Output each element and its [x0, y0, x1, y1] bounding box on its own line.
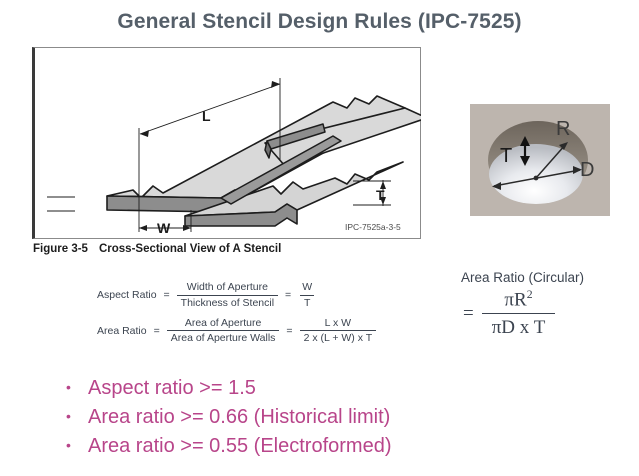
bullet-marker-icon: • [66, 380, 88, 394]
area-ratio-formula: Area Ratio = Area of Aperture Area of Ap… [97, 317, 376, 346]
dimension-label-width: W [157, 220, 171, 236]
list-item: • Aspect ratio >= 1.5 [66, 374, 626, 403]
aspect-ratio-label: Aspect Ratio [97, 289, 157, 301]
aperture-label-thickness: T [500, 145, 512, 167]
area-ratio-circular-expression: = πR2 πD x T [461, 288, 584, 340]
area-ratio-numerator-words: Area of Aperture [181, 317, 265, 331]
area-ratio-circular-denominator: πD x T [482, 313, 556, 340]
bullet-text: Area ratio >= 0.55 (Electroformed) [88, 432, 391, 461]
area-ratio-circular-numerator: πR [504, 289, 526, 310]
page-title: General Stencil Design Rules (IPC-7525) [0, 10, 639, 34]
figure-caption-number: Figure 3-5 [33, 243, 88, 255]
figure-caption: Figure 3-5Cross-Sectional View of A Sten… [33, 243, 281, 255]
area-ratio-word-fraction: Area of Aperture Area of Aperture Walls [167, 317, 280, 346]
stencil-formulas: Aspect Ratio = Width of Aperture Thickne… [97, 281, 376, 352]
bullet-text: Area ratio >= 0.66 (Historical limit) [88, 403, 390, 432]
circular-aperture-image: R D T [470, 104, 610, 216]
aspect-ratio-word-fraction: Width of Aperture Thickness of Stencil [177, 281, 278, 310]
area-ratio-circular-fraction: πR2 πD x T [482, 288, 556, 340]
bullet-text: Aspect ratio >= 1.5 [88, 374, 256, 403]
bullet-marker-icon: • [66, 409, 88, 423]
area-ratio-equals-2: = [286, 325, 292, 337]
list-item: • Area ratio >= 0.66 (Historical limit) [66, 403, 626, 432]
aspect-ratio-equals: = [164, 289, 170, 301]
aspect-ratio-denominator-symbol: T [300, 295, 314, 310]
aspect-ratio-symbol-fraction: W T [298, 281, 316, 310]
design-rules-bullet-list: • Aspect ratio >= 1.5 • Area ratio >= 0.… [66, 374, 626, 460]
bullet-marker-icon: • [66, 438, 88, 452]
aspect-ratio-numerator-symbol: W [298, 281, 316, 295]
area-ratio-circular-label: Area Ratio (Circular) [461, 270, 584, 285]
aspect-ratio-formula: Aspect Ratio = Width of Aperture Thickne… [97, 281, 376, 310]
area-ratio-symbol-fraction: L x W 2 x (L + W) x T [300, 317, 377, 346]
area-ratio-circular-formula: Area Ratio (Circular) = πR2 πD x T [461, 270, 584, 340]
area-ratio-equals: = [154, 325, 160, 337]
aspect-ratio-equals-2: = [285, 289, 291, 301]
stencil-figure-box: L W T IPC-7525a-3-5 [32, 47, 421, 239]
area-ratio-circular-equals: = [463, 303, 474, 325]
dimension-label-length: L [202, 108, 211, 124]
circular-aperture-svg: R D T [470, 104, 610, 216]
area-ratio-circular-numerator-wrap: πR2 [494, 288, 542, 313]
figure-caption-text: Cross-Sectional View of A Stencil [99, 243, 281, 255]
dimension-label-thickness: T [376, 187, 385, 203]
aspect-ratio-numerator-words: Width of Aperture [183, 281, 272, 295]
list-item: • Area ratio >= 0.55 (Electroformed) [66, 432, 626, 461]
area-ratio-denominator-symbol: 2 x (L + W) x T [300, 330, 377, 345]
stencil-isometric-diagram: L W T IPC-7525a-3-5 [35, 48, 421, 238]
aperture-label-radius: R [556, 118, 570, 140]
aperture-label-diameter: D [580, 159, 594, 181]
area-ratio-denominator-words: Area of Aperture Walls [167, 330, 280, 345]
area-ratio-numerator-symbol: L x W [321, 317, 355, 331]
aspect-ratio-denominator-words: Thickness of Stencil [177, 295, 278, 310]
figure-source-code: IPC-7525a-3-5 [345, 222, 401, 232]
area-ratio-circular-exponent: 2 [527, 288, 533, 301]
area-ratio-label: Area Ratio [97, 325, 147, 337]
